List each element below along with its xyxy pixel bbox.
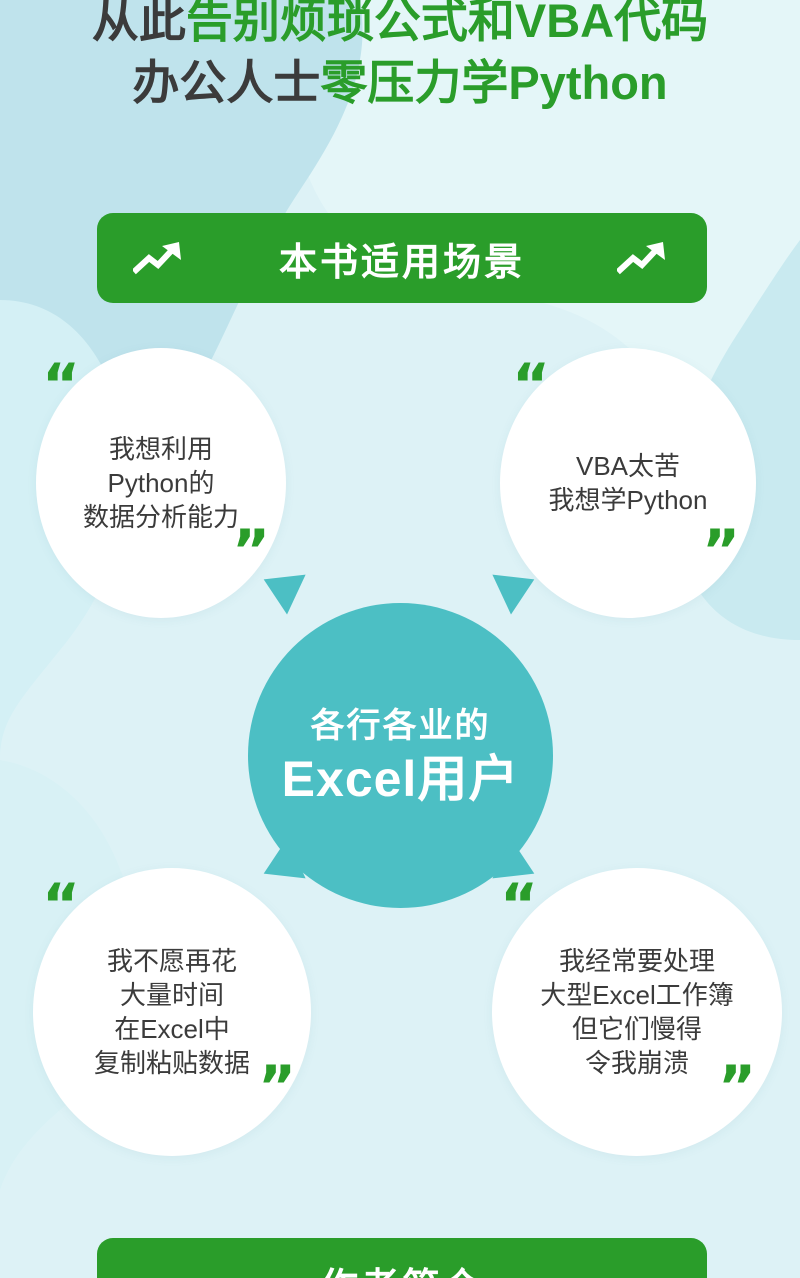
quote-line: 大型Excel工作簿 bbox=[540, 978, 734, 1012]
quote-close-icon: ” bbox=[258, 1058, 296, 1116]
quote-line: VBA太苦 bbox=[576, 449, 680, 483]
quote-line: 数据分析能力 bbox=[83, 500, 239, 534]
quote-line: 我经常要处理 bbox=[559, 944, 715, 978]
section-banner-scenarios: 本书适用场景 bbox=[97, 213, 707, 303]
quote-open-icon: “ bbox=[500, 876, 538, 934]
center-line-1: 各行各业的 bbox=[311, 703, 491, 749]
quote-line: 但它们慢得 bbox=[572, 1012, 702, 1046]
quote-open-icon: “ bbox=[512, 356, 550, 414]
trending-up-arrow-icon bbox=[617, 238, 671, 278]
quote-open-icon: “ bbox=[42, 356, 80, 414]
headline-line-2-green: 零压力学Python bbox=[320, 56, 667, 109]
section-banner-author: 作者简介 bbox=[97, 1238, 707, 1278]
quote-open-icon: “ bbox=[42, 876, 80, 934]
quote-line: 在Excel中 bbox=[114, 1012, 230, 1046]
headline-line-2-dark: 办公人士 bbox=[132, 56, 320, 109]
quote-close-icon: ” bbox=[232, 522, 270, 580]
quote-close-icon: ” bbox=[702, 522, 740, 580]
quote-line: 复制粘贴数据 bbox=[94, 1046, 250, 1080]
banner-title-top: 本书适用场景 bbox=[279, 231, 525, 286]
trending-up-arrow-icon bbox=[133, 238, 187, 278]
page-title: 从此告别烦琐公式和VBA代码 办公人士零压力学Python bbox=[0, 0, 800, 114]
quote-line: 令我崩溃 bbox=[585, 1046, 689, 1080]
center-line-2: Excel用户 bbox=[282, 749, 520, 809]
quote-line: Python的 bbox=[108, 466, 215, 500]
headline-line-1: 从此告别烦琐公式和VBA代码 bbox=[0, 0, 800, 52]
headline-line-1-dark: 从此 bbox=[92, 0, 186, 47]
quote-line: 我想学Python bbox=[549, 483, 708, 517]
quote-line: 我不愿再花 bbox=[107, 944, 237, 978]
quote-line: 大量时间 bbox=[120, 978, 224, 1012]
quote-close-icon: ” bbox=[718, 1058, 756, 1116]
headline-line-1-green: 告别烦琐公式和VBA代码 bbox=[186, 0, 708, 47]
banner-title-bottom: 作者简介 bbox=[320, 1256, 484, 1278]
headline-line-2: 办公人士零压力学Python bbox=[0, 52, 800, 114]
quote-line: 我想利用 bbox=[109, 432, 213, 466]
promo-page: 从此告别烦琐公式和VBA代码 办公人士零压力学Python 本书适用场景 我想利… bbox=[0, 0, 800, 1278]
